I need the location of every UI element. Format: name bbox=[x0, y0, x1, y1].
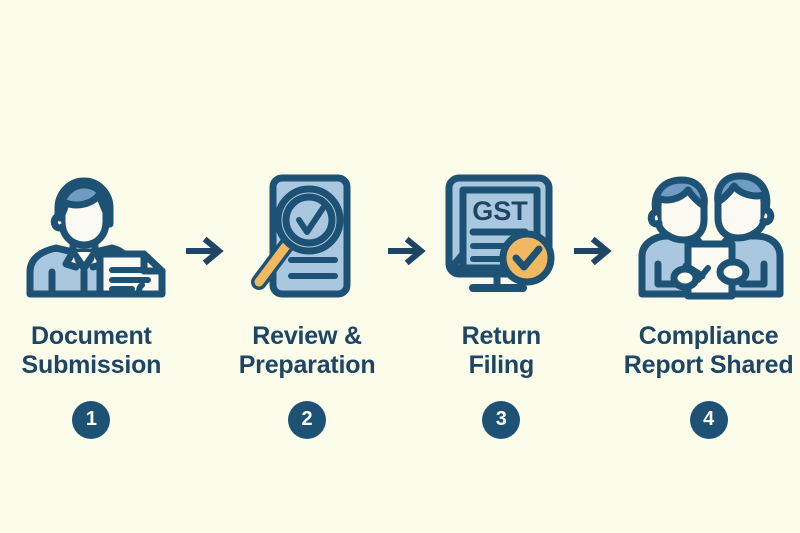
process-step-4[interactable]: Compliance Report Shared 4 bbox=[617, 0, 800, 439]
gst-monitor-check-icon: GST bbox=[439, 170, 563, 300]
gst-screen-text: GST bbox=[473, 196, 529, 226]
process-flow-row: Document Submission 1 bbox=[0, 0, 800, 533]
arrow-step2-to-step3 bbox=[385, 236, 431, 266]
step-3-label: Return Filing bbox=[462, 322, 541, 381]
person-with-document-icon bbox=[16, 170, 166, 300]
step-2-label: Review & Preparation bbox=[239, 322, 376, 381]
step-4-label: Compliance Report Shared bbox=[624, 322, 794, 381]
step-1-label: Document Submission bbox=[22, 322, 162, 381]
process-step-2[interactable]: Review & Preparation 2 bbox=[229, 0, 386, 439]
step-1-badge: 1 bbox=[72, 401, 110, 439]
step-2-badge: 2 bbox=[288, 401, 326, 439]
arrow-step1-to-step2 bbox=[183, 236, 229, 266]
document-magnifier-check-icon bbox=[247, 170, 367, 300]
step-3-badge: 3 bbox=[482, 401, 520, 439]
step-4-badge: 4 bbox=[690, 401, 728, 439]
process-step-3[interactable]: GST Return Filing 3 bbox=[431, 0, 571, 439]
two-people-sharing-report-icon bbox=[628, 170, 790, 300]
arrow-step3-to-step4 bbox=[571, 236, 617, 266]
infographic-canvas: Document Submission 1 bbox=[0, 0, 800, 533]
process-step-1[interactable]: Document Submission 1 bbox=[0, 0, 183, 439]
